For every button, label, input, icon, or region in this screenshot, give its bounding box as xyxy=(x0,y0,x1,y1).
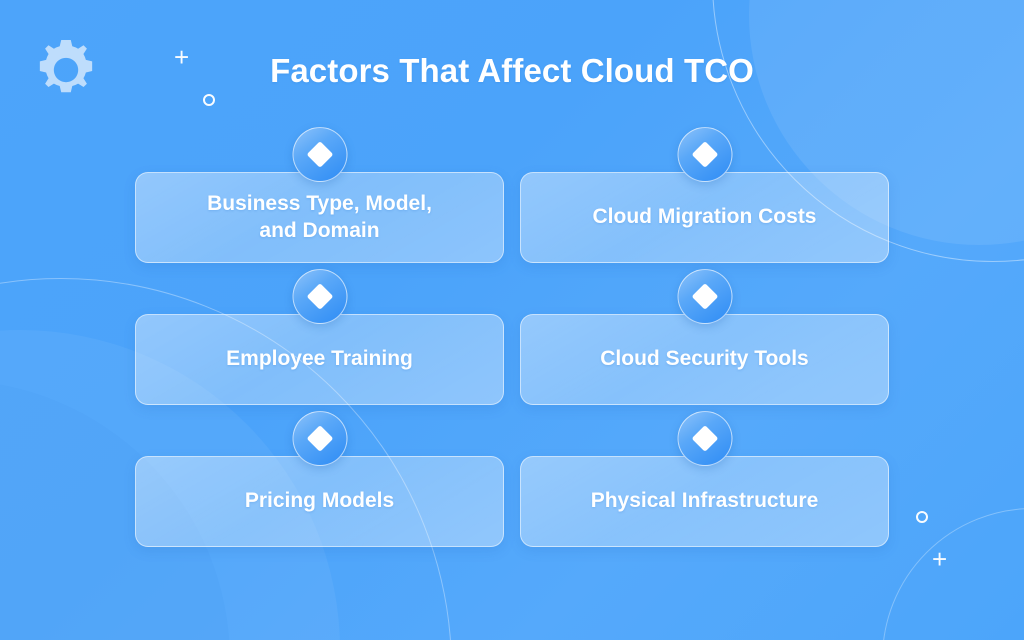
diamond-icon xyxy=(292,269,347,324)
corner-ring-bottom-right xyxy=(882,508,1024,640)
factor-card[interactable]: Cloud Security Tools xyxy=(520,314,889,405)
diamond-icon xyxy=(292,127,347,182)
diamond-icon xyxy=(677,269,732,324)
factor-card-grid: Business Type, Model, and Domain Cloud M… xyxy=(135,172,889,547)
factor-card-label: Cloud Migration Costs xyxy=(575,204,835,231)
infographic-canvas: + + Factors That Affect Cloud TCO Busine… xyxy=(0,0,1024,640)
factor-card-label: Physical Infrastructure xyxy=(573,488,837,515)
diamond-icon xyxy=(677,411,732,466)
diamond-icon xyxy=(292,411,347,466)
factor-card[interactable]: Physical Infrastructure xyxy=(520,456,889,547)
factor-card-label: Cloud Security Tools xyxy=(582,346,826,373)
factor-card[interactable]: Cloud Migration Costs xyxy=(520,172,889,263)
factor-card-label: Business Type, Model, and Domain xyxy=(189,191,450,245)
factor-card[interactable]: Employee Training xyxy=(135,314,504,405)
diamond-icon xyxy=(677,127,732,182)
ring-mark-top-left xyxy=(203,94,215,106)
factor-card-label: Employee Training xyxy=(208,346,431,373)
factor-card[interactable]: Pricing Models xyxy=(135,456,504,547)
factor-card-label: Pricing Models xyxy=(227,488,412,515)
ring-mark-bottom-right xyxy=(916,511,928,523)
plus-mark-bottom-right: + xyxy=(932,546,947,572)
factor-card[interactable]: Business Type, Model, and Domain xyxy=(135,172,504,263)
page-title: Factors That Affect Cloud TCO xyxy=(0,52,1024,90)
